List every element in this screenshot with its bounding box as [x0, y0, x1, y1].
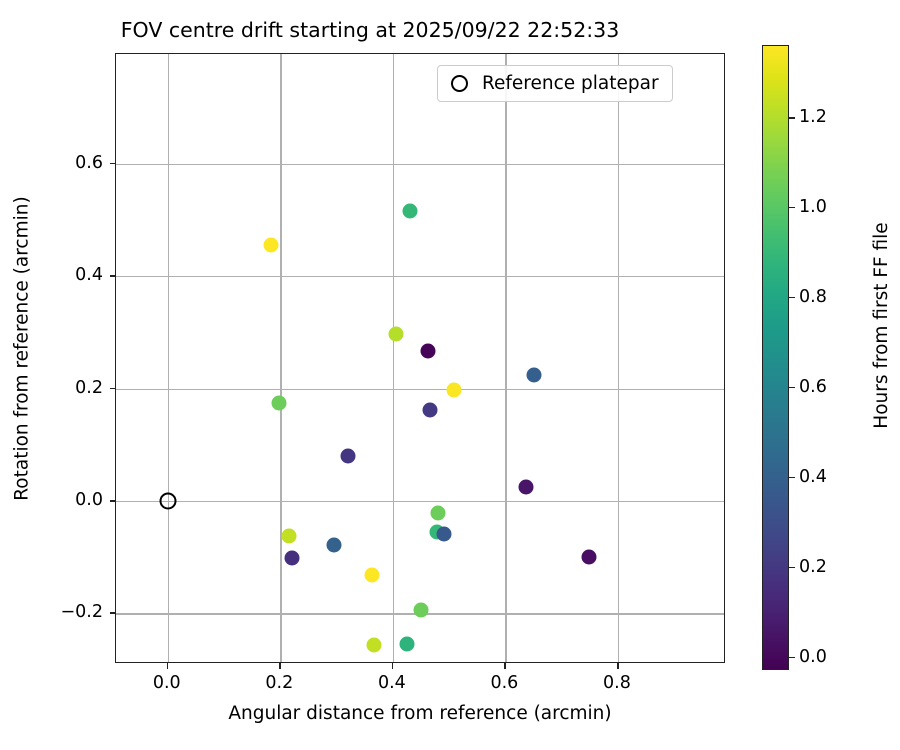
colorbar-tick	[789, 207, 795, 209]
colorbar-tick-label: 1.0	[799, 197, 827, 217]
x-axis-tick	[504, 663, 506, 669]
y-axis-tick	[110, 163, 116, 165]
y-axis-label: Rotation from reference (arcmin)	[12, 44, 33, 654]
plot-area[interactable]	[115, 53, 725, 663]
x-axis-tick-label: 0.6	[490, 673, 518, 693]
x-axis-label: Angular distance from reference (arcmin)	[115, 703, 725, 724]
y-axis-tick	[110, 388, 116, 390]
colorbar-tick-label: 0.2	[799, 557, 827, 577]
colorbar-tick	[789, 567, 795, 569]
x-axis-tick	[279, 663, 281, 669]
legend-entry-label: Reference platepar	[482, 73, 659, 94]
colorbar-gradient	[762, 45, 789, 670]
colorbar-tick	[789, 297, 795, 299]
colorbar-label: Hours from first FF file	[871, 13, 892, 638]
colorbar-tick-label: 0.8	[799, 287, 827, 307]
colorbar-tick-label: 0.6	[799, 377, 827, 397]
reference-platepar-marker	[159, 492, 176, 509]
x-axis-tick-label: 0.8	[603, 673, 631, 693]
legend-open-circle-icon	[451, 75, 468, 92]
colorbar-tick	[789, 657, 795, 659]
x-axis-tick-label: 0.0	[153, 673, 181, 693]
colorbar-tick-label: 0.0	[799, 647, 827, 667]
y-axis-tick	[110, 500, 116, 502]
x-axis-tick-label: 0.4	[378, 673, 406, 693]
colorbar-tick	[789, 477, 795, 479]
x-axis-tick-label: 0.2	[265, 673, 293, 693]
y-axis-tick	[110, 612, 116, 614]
chart-title: FOV centre drift starting at 2025/09/22 …	[0, 18, 740, 42]
colorbar: 0.00.20.40.60.81.01.2	[762, 45, 789, 670]
x-axis-tick	[392, 663, 394, 669]
legend: Reference platepar	[437, 65, 673, 102]
x-axis-tick	[617, 663, 619, 669]
reference-marker-layer	[116, 54, 724, 662]
colorbar-tick	[789, 117, 795, 119]
y-axis-tick	[110, 275, 116, 277]
x-axis-tick	[167, 663, 169, 669]
chart-root: FOV centre drift starting at 2025/09/22 …	[0, 0, 900, 750]
colorbar-tick-label: 1.2	[799, 107, 827, 127]
colorbar-tick	[789, 387, 795, 389]
colorbar-tick-label: 0.4	[799, 467, 827, 487]
